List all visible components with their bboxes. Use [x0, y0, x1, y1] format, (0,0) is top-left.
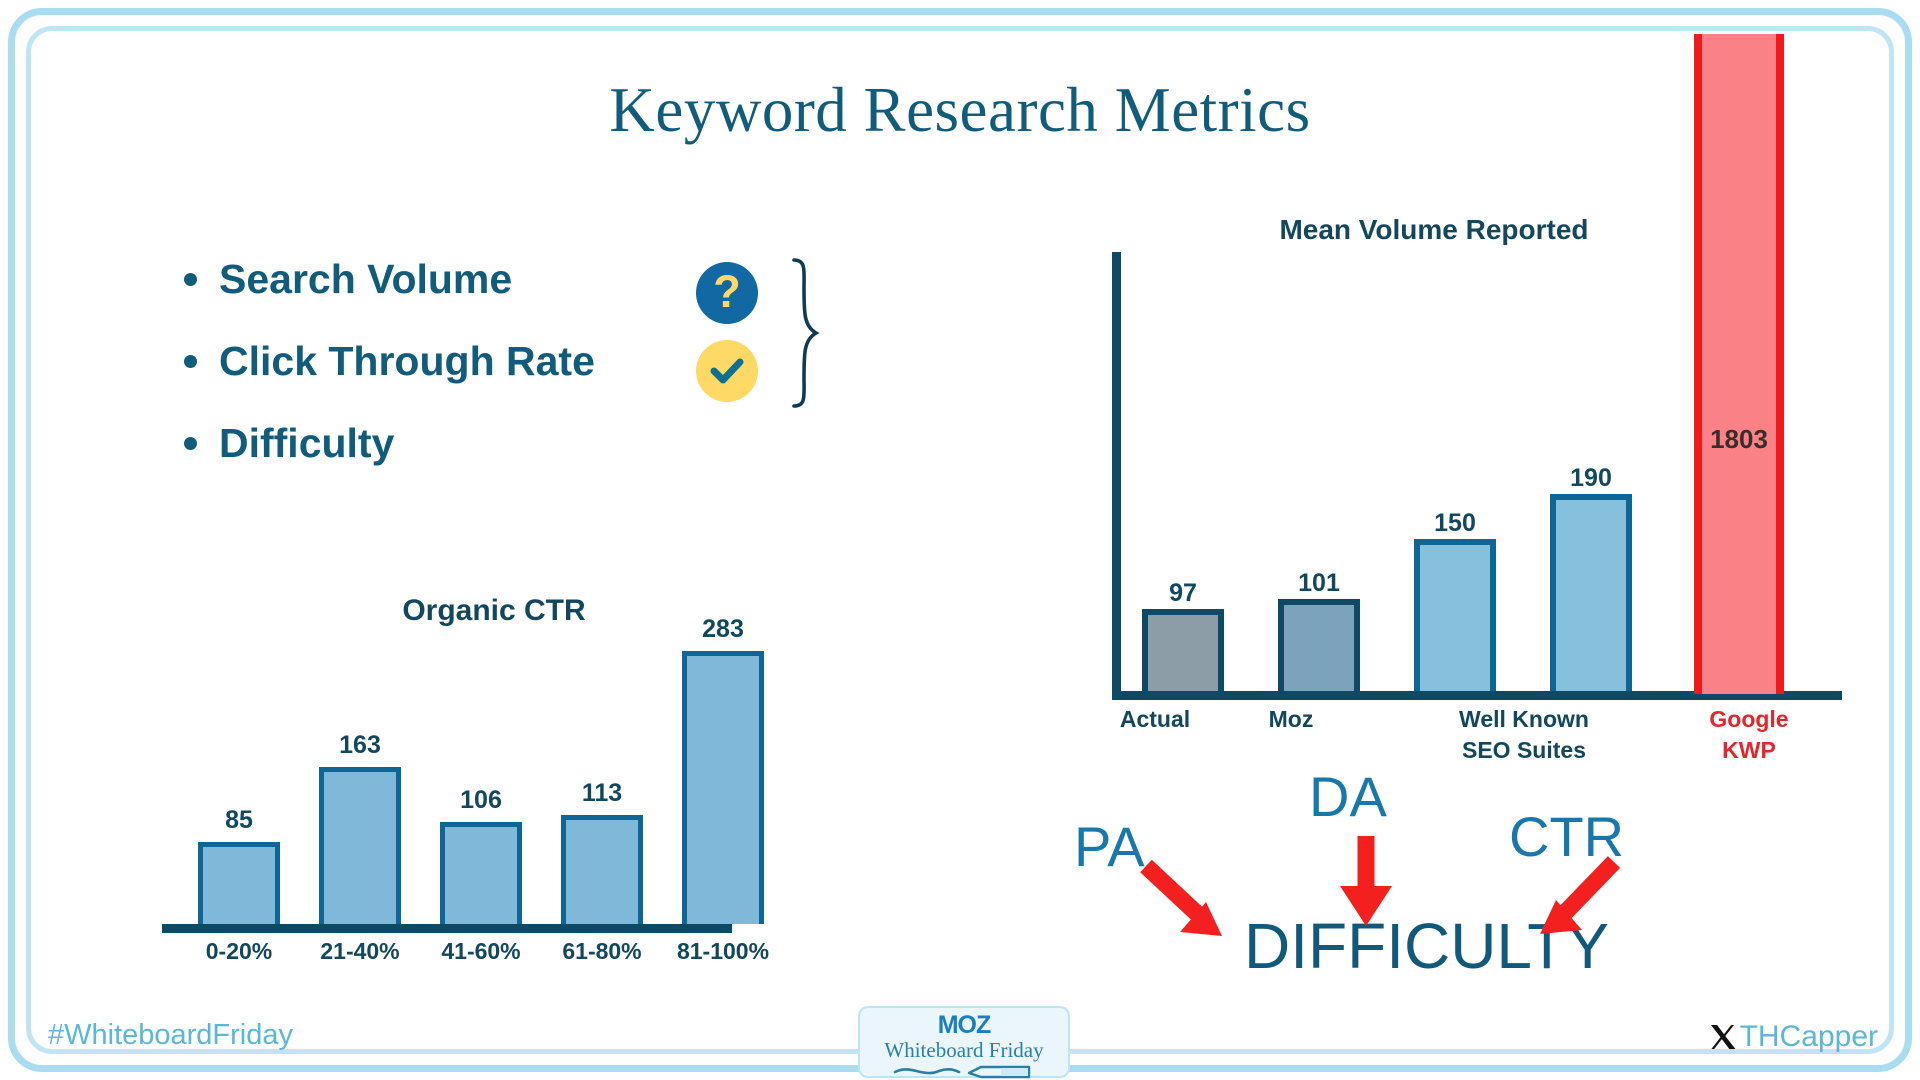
plot-area: 85 163 106 113 283 [180, 654, 740, 924]
check-mark-glyph [705, 349, 749, 393]
bar-61-80 [561, 815, 643, 924]
bar-seo-suite-150 [1414, 539, 1496, 691]
difficulty-factor-ctr: CTR [1509, 804, 1624, 869]
moz-logo-text: MOZ [860, 1013, 1068, 1038]
bar-value-label-google-kwp: 1803 [1674, 424, 1804, 455]
bullet-label-difficulty: Difficulty [219, 420, 394, 467]
curly-brace-icon [788, 258, 828, 408]
x-tick-label-google-kwp-line2: KWP [1659, 735, 1839, 766]
metric-status-icons: ? [696, 262, 826, 407]
bar-moz [1278, 599, 1360, 691]
chart-title-organic-ctr: Organic CTR [334, 594, 654, 628]
difficulty-target-label: DIFFICULTY [1244, 909, 1609, 983]
bullet-dot-icon [184, 355, 197, 368]
bar-value-label: 163 [290, 731, 430, 760]
bullet-label-search-volume: Search Volume [219, 256, 512, 303]
page-title: Keyword Research Metrics [34, 74, 1886, 147]
chart-title-mean-volume: Mean Volume Reported [1224, 214, 1644, 246]
x-tick-label-google-kwp: Google KWP [1659, 704, 1839, 766]
bar-value-label: 101 [1249, 569, 1389, 598]
bar-actual [1142, 609, 1224, 691]
bar-seo-suite-190 [1550, 494, 1632, 691]
bar-value-label: 150 [1385, 509, 1525, 538]
difficulty-factor-da: DA [1309, 764, 1387, 829]
bar-0-20 [198, 842, 280, 924]
bar-value-label: 190 [1521, 464, 1661, 493]
thcapper-handle: THCapper [1740, 1020, 1878, 1054]
bar-value-label: 85 [169, 806, 309, 835]
bar-value-label: 97 [1113, 579, 1253, 608]
difficulty-factor-pa: PA [1074, 814, 1145, 879]
x-logo-icon [1708, 1022, 1738, 1052]
bullet-dot-icon [184, 437, 197, 450]
bar-value-label: 113 [532, 779, 672, 808]
slide-canvas: Keyword Research Metrics Search Volume C… [34, 34, 1886, 1012]
x-tick-label-seo-suites: Well Known SEO Suites [1404, 704, 1644, 766]
bar-21-40 [319, 767, 401, 924]
x-tick-label-moz: Moz [1201, 704, 1381, 735]
list-item: Search Volume [184, 244, 595, 314]
chart-organic-ctr: Organic CTR 85 163 106 113 283 0-20% [154, 594, 874, 994]
x-tick-label-seo-suites-line2: SEO Suites [1404, 735, 1644, 766]
bar-value-label: 283 [653, 615, 793, 644]
marker-squiggle-icon [889, 1063, 1039, 1079]
bar-google-kwp [1694, 34, 1784, 694]
thcapper-credit[interactable]: THCapper [1708, 1020, 1878, 1054]
check-mark-icon [696, 340, 758, 402]
slide-root: Keyword Research Metrics Search Volume C… [0, 0, 1920, 1080]
bullet-label-click-through-rate: Click Through Rate [219, 338, 595, 385]
hashtag-label: #WhiteboardFriday [48, 1019, 293, 1052]
metrics-bullet-list: Search Volume Click Through Rate Difficu… [184, 244, 595, 490]
difficulty-diagram: PA DA CTR DIFFICULTY [1094, 774, 1884, 1012]
bar-41-60 [440, 822, 522, 924]
x-tick-label-81-100: 81-100% [633, 936, 813, 967]
bar-81-100 [682, 651, 764, 924]
bar-value-label: 106 [411, 786, 551, 815]
moz-whiteboard-friday-badge: MOZ Whiteboard Friday [858, 1006, 1070, 1078]
list-item: Difficulty [184, 408, 595, 478]
x-axis-line [162, 924, 732, 933]
arrow-pa-icon [1146, 866, 1222, 936]
x-tick-label-seo-suites-line1: Well Known [1404, 704, 1644, 735]
list-item: Click Through Rate [184, 326, 595, 396]
moz-badge-subtitle: Whiteboard Friday [860, 1038, 1068, 1062]
question-mark-glyph: ? [713, 269, 741, 314]
bullet-dot-icon [184, 273, 197, 286]
question-mark-icon: ? [696, 262, 758, 324]
x-tick-label-google-kwp-line1: Google [1659, 704, 1839, 735]
